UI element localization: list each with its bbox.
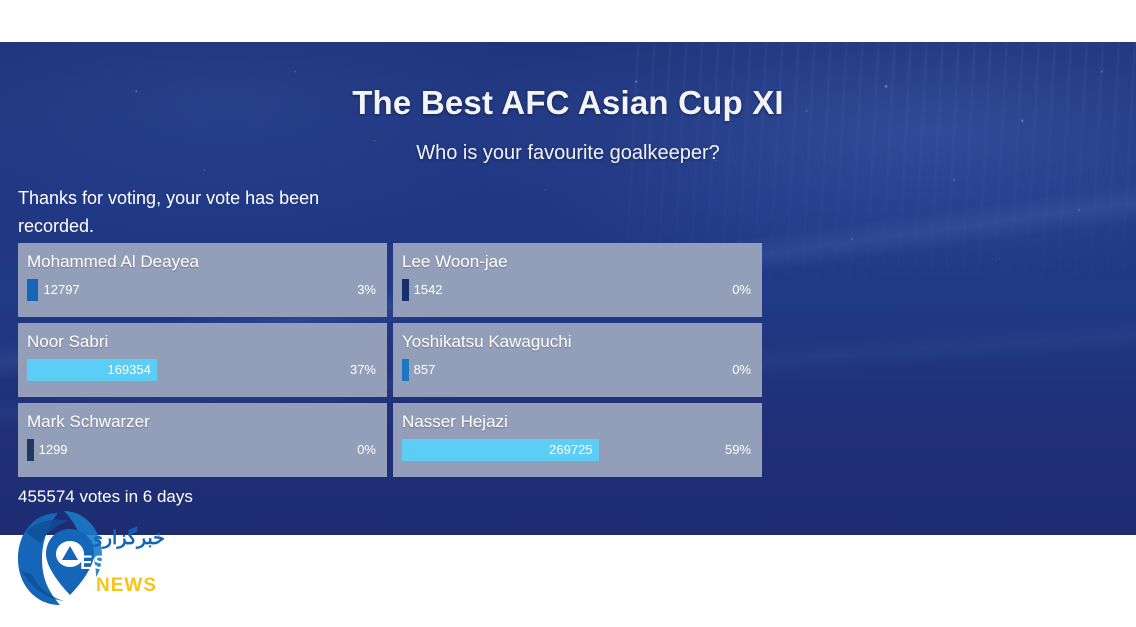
poll-option-bar bbox=[402, 359, 409, 381]
poll-option-vote-count: 857 bbox=[414, 359, 436, 381]
poll-option-vote-count: 12797 bbox=[44, 279, 80, 301]
vote-confirmation-message: Thanks for voting, your vote has been re… bbox=[18, 184, 390, 240]
watermark-brand: ESTEGHLAL bbox=[80, 553, 200, 575]
poll-option-percent: 0% bbox=[732, 279, 751, 301]
poll-option-name: Mohammed Al Deayea bbox=[27, 250, 378, 274]
poll-option-bar-row: 26972559% bbox=[402, 439, 753, 461]
poll-option[interactable]: Mohammed Al Deayea127973% bbox=[18, 243, 387, 317]
watermark-sub-brand: NEWS bbox=[96, 575, 157, 597]
poll-option-name: Mark Schwarzer bbox=[27, 410, 378, 434]
poll-option-bar-row: 8570% bbox=[402, 359, 753, 381]
poll-option[interactable]: Mark Schwarzer12990% bbox=[18, 403, 387, 477]
poll-option-vote-count: 269725 bbox=[549, 439, 592, 461]
poll-option-name: Lee Woon-jae bbox=[402, 250, 753, 274]
poll-option-bar-row: 16935437% bbox=[27, 359, 378, 381]
poll-question: Who is your favourite goalkeeper? bbox=[0, 142, 1136, 165]
screenshot-canvas: The Best AFC Asian Cup XI Who is your fa… bbox=[0, 0, 1136, 627]
poll-option-name: Nasser Hejazi bbox=[402, 410, 753, 434]
poll-option-percent: 37% bbox=[350, 359, 376, 381]
poll-option-percent: 0% bbox=[357, 439, 376, 461]
poll-option-bar bbox=[402, 279, 409, 301]
poll-option-bar bbox=[27, 439, 34, 461]
poll-option-percent: 59% bbox=[725, 439, 751, 461]
poll-option[interactable]: Noor Sabri16935437% bbox=[18, 323, 387, 397]
poll-option-name: Yoshikatsu Kawaguchi bbox=[402, 330, 753, 354]
poll-option-bar bbox=[27, 279, 38, 301]
poll-option[interactable]: Yoshikatsu Kawaguchi8570% bbox=[393, 323, 762, 397]
poll-option-percent: 0% bbox=[732, 359, 751, 381]
poll-option-bar-row: 127973% bbox=[27, 279, 378, 301]
poll-option-bar-row: 12990% bbox=[27, 439, 378, 461]
poll-options-grid: Mohammed Al Deayea127973%Lee Woon-jae154… bbox=[18, 243, 762, 477]
poll-option-vote-count: 1542 bbox=[414, 279, 443, 301]
poll-option-vote-count: 1299 bbox=[39, 439, 68, 461]
poll-option-vote-count: 169354 bbox=[107, 359, 150, 381]
poll-option-percent: 3% bbox=[357, 279, 376, 301]
poll-option[interactable]: Nasser Hejazi26972559% bbox=[393, 403, 762, 477]
page-title: The Best AFC Asian Cup XI bbox=[0, 84, 1136, 122]
poll-option-bar-row: 15420% bbox=[402, 279, 753, 301]
poll-option-name: Noor Sabri bbox=[27, 330, 378, 354]
poll-option[interactable]: Lee Woon-jae15420% bbox=[393, 243, 762, 317]
watermark-persian-text: خبرگزاری bbox=[88, 527, 165, 550]
watermark-logo: خبرگزاری ESTEGHLAL NEWS bbox=[8, 503, 188, 615]
